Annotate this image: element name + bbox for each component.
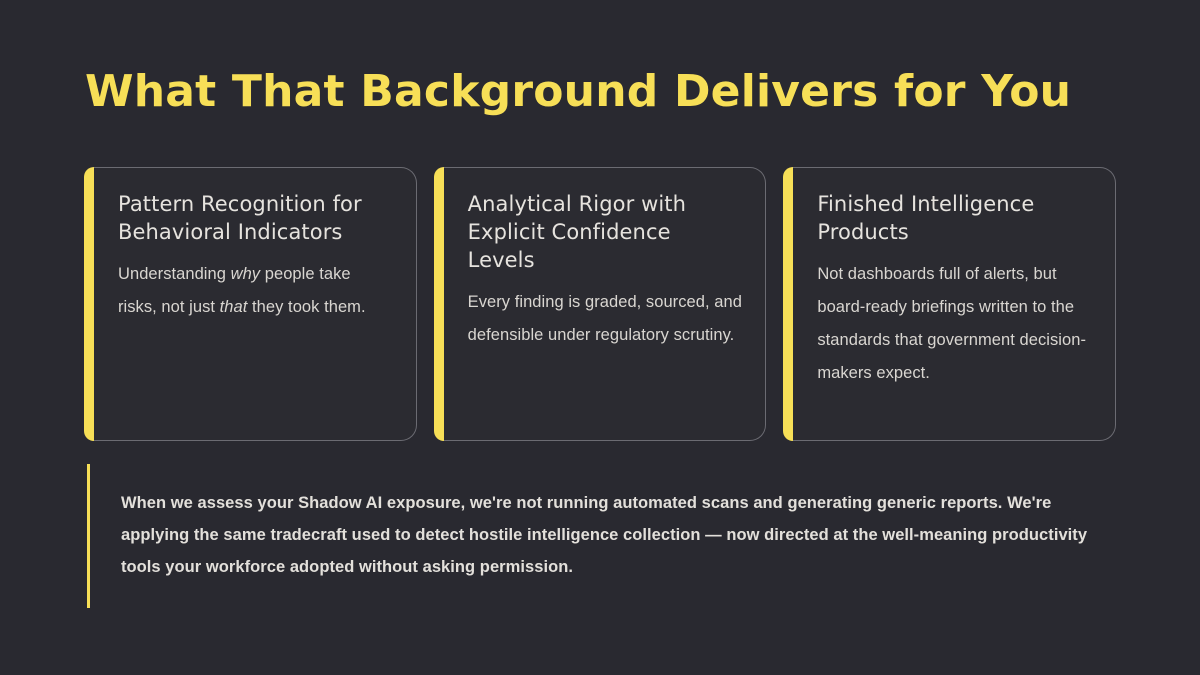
card-title: Pattern Recognition for Behavioral Indic… <box>118 190 394 246</box>
feature-card-row: Pattern Recognition for Behavioral Indic… <box>84 167 1116 441</box>
card-accent-bar <box>84 167 94 441</box>
card-description: Not dashboards full of alerts, but board… <box>817 258 1093 390</box>
card-description-part: Understanding <box>118 265 231 283</box>
feature-card-finished-intelligence: Finished Intelligence Products Not dashb… <box>783 167 1116 441</box>
card-title: Finished Intelligence Products <box>817 190 1093 246</box>
feature-card-pattern-recognition: Pattern Recognition for Behavioral Indic… <box>84 167 417 441</box>
card-description-emphasis: why <box>231 265 261 283</box>
page-title: What That Background Delivers for You <box>85 61 1071 123</box>
summary-callout: When we assess your Shadow AI exposure, … <box>87 464 1115 608</box>
card-description: Understanding why people take risks, not… <box>118 258 394 324</box>
card-description-emphasis: that <box>220 298 248 316</box>
card-title: Analytical Rigor with Explicit Confidenc… <box>468 190 744 274</box>
card-content: Analytical Rigor with Explicit Confidenc… <box>444 167 767 441</box>
callout-text: When we assess your Shadow AI exposure, … <box>90 464 1115 608</box>
card-accent-bar <box>783 167 793 441</box>
card-description: Every finding is graded, sourced, and de… <box>468 286 744 352</box>
card-description-part: they took them. <box>247 298 365 316</box>
card-content: Finished Intelligence Products Not dashb… <box>793 167 1116 441</box>
slide-root: What That Background Delivers for You Pa… <box>0 0 1200 675</box>
card-accent-bar <box>434 167 444 441</box>
card-content: Pattern Recognition for Behavioral Indic… <box>94 167 417 441</box>
feature-card-analytical-rigor: Analytical Rigor with Explicit Confidenc… <box>434 167 767 441</box>
